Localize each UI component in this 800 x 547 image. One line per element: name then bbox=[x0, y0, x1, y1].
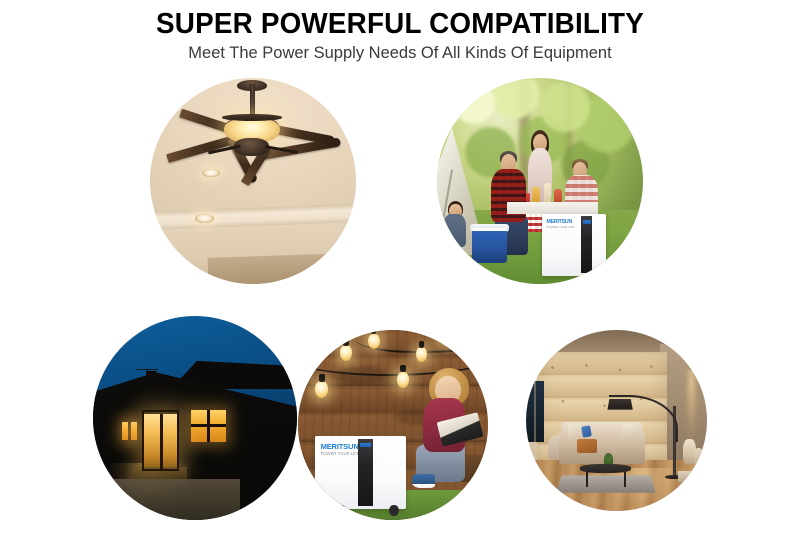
window-mullion bbox=[534, 381, 536, 443]
walkway-path bbox=[93, 479, 240, 520]
lit-window bbox=[131, 422, 137, 440]
lower-wall bbox=[207, 252, 356, 284]
light-globe-rim bbox=[222, 114, 282, 121]
product-tagline-label: POWER YOUR LIFE bbox=[547, 226, 575, 229]
coffee-table-leg bbox=[586, 471, 589, 487]
product-tagline-label: POWER YOUR LIFE bbox=[321, 452, 360, 456]
door-divider bbox=[160, 414, 163, 469]
header: SUPER POWERFUL COMPATIBILITY Meet The Po… bbox=[0, 0, 800, 64]
circle-girl-reading: MERITSUN POWER YOUR LIFE bbox=[298, 330, 488, 520]
window-mullion bbox=[191, 424, 226, 427]
light-bulb-icon bbox=[368, 334, 379, 349]
night-house-scene bbox=[93, 316, 297, 520]
page-title: SUPER POWERFUL COMPATIBILITY bbox=[16, 9, 784, 40]
device-display-screen bbox=[360, 443, 371, 447]
floor-lamp-shade bbox=[607, 399, 632, 410]
page-subtitle: Meet The Power Supply Needs Of All Kinds… bbox=[0, 44, 800, 64]
ceiling-fan-scene bbox=[150, 78, 356, 284]
wall-shelf bbox=[678, 471, 707, 482]
light-bulb-icon bbox=[397, 372, 409, 388]
accent-pillow bbox=[581, 425, 592, 437]
circle-camping: MERITSUN POWER YOUR LIFE bbox=[437, 78, 643, 284]
girl-reading-scene: MERITSUN POWER YOUR LIFE bbox=[298, 330, 488, 520]
portable-power-station: MERITSUN POWER YOUR LIFE bbox=[315, 436, 406, 508]
circle-living-room bbox=[526, 330, 707, 511]
man-plaid-shirt bbox=[491, 169, 526, 223]
device-caster-wheel bbox=[336, 505, 346, 516]
circle-ceiling-fan bbox=[150, 78, 356, 284]
decorative-vase bbox=[694, 448, 703, 464]
cooler-box bbox=[472, 228, 507, 263]
camping-scene: MERITSUN POWER YOUR LIFE bbox=[437, 78, 643, 284]
device-display-screen bbox=[583, 220, 591, 224]
portable-power-station: MERITSUN POWER YOUR LIFE bbox=[542, 214, 606, 276]
device-front-panel bbox=[581, 216, 592, 273]
device-front-panel bbox=[358, 439, 373, 506]
recessed-downlight-icon bbox=[195, 214, 214, 223]
light-bulb-icon bbox=[441, 332, 451, 346]
lit-window bbox=[122, 422, 128, 440]
picnic-table bbox=[507, 202, 598, 214]
promo-banner: SUPER POWERFUL COMPATIBILITY Meet The Po… bbox=[0, 0, 800, 547]
wall-light-glow bbox=[683, 370, 699, 442]
coffee-table-leg bbox=[624, 471, 627, 487]
product-brand-label: MERITSUN bbox=[321, 443, 359, 451]
child-body bbox=[443, 214, 466, 247]
circle-night-house bbox=[93, 316, 297, 520]
throw-blanket bbox=[577, 439, 597, 453]
girl-shoe bbox=[412, 474, 435, 487]
device-caster-wheel bbox=[389, 505, 399, 516]
coffee-table bbox=[580, 464, 631, 473]
living-room-scene bbox=[526, 330, 707, 511]
area-rug bbox=[556, 476, 656, 494]
